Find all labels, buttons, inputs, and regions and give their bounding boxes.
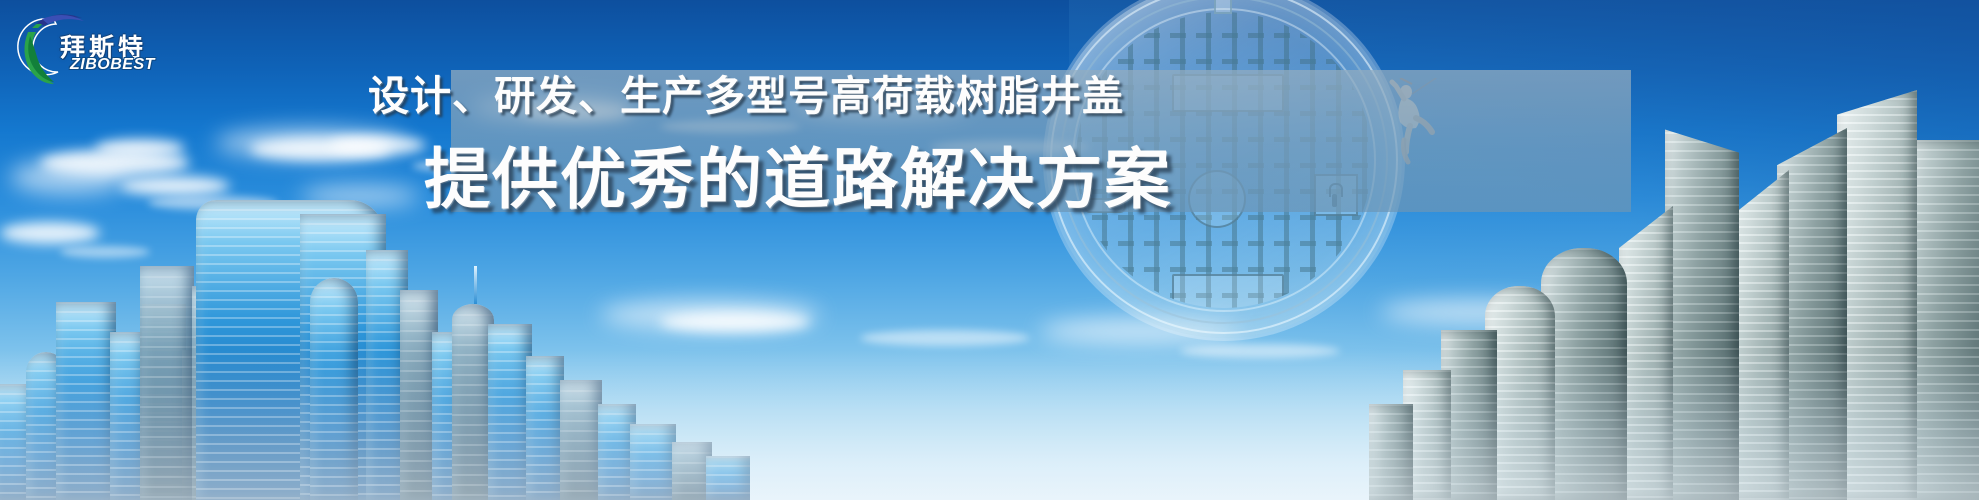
promo-banner: 设计、研发、生产多型号高荷载树脂井盖 提供优秀的道路解决方案 拜斯特 ZIBOB…	[0, 0, 1979, 500]
headline-overlay-panel	[451, 70, 1631, 212]
logo-english-name: ZIBOBEST	[70, 56, 155, 74]
company-logo[interactable]: 拜斯特 ZIBOBEST	[8, 6, 158, 86]
manhole-hinge-tab	[1214, 0, 1232, 14]
manhole-bottom-plate	[1172, 274, 1284, 308]
left-skyline	[0, 170, 910, 500]
